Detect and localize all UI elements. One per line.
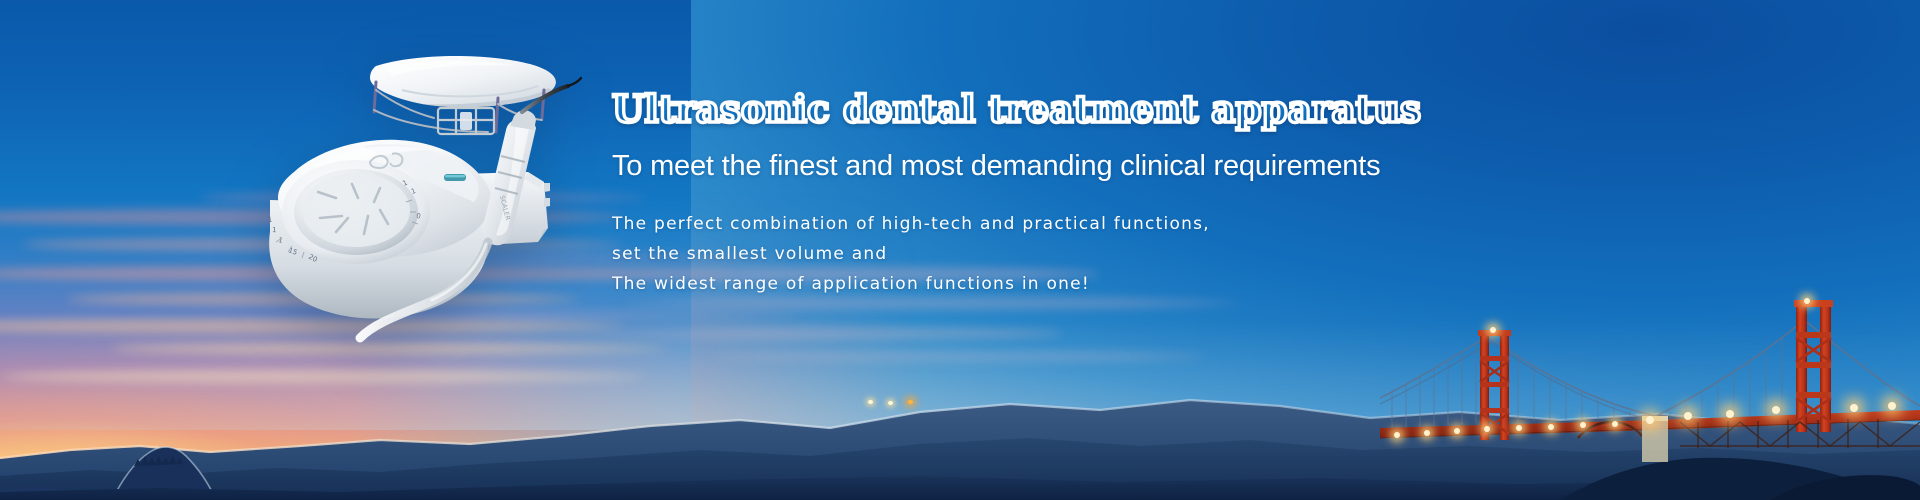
bridge-lamp bbox=[1484, 426, 1490, 432]
bridge-tower-beacon bbox=[1490, 327, 1496, 333]
bridge-lamp bbox=[1726, 410, 1734, 418]
golden-gate-bridge bbox=[1380, 270, 1920, 500]
bridge-tower-beacon bbox=[1804, 298, 1810, 304]
bridge-lamp bbox=[1684, 412, 1692, 420]
body-line-3: The widest range of application function… bbox=[612, 269, 1312, 299]
body-copy: The perfect combination of high-tech and… bbox=[612, 209, 1312, 299]
body-line-1: The perfect combination of high-tech and… bbox=[612, 209, 1312, 239]
bridge-lamp bbox=[1612, 421, 1618, 427]
ridge-light bbox=[868, 400, 873, 404]
hero-banner: 0 1 1 20 15 1 1 1 bbox=[0, 0, 1920, 500]
bridge-lamp bbox=[1548, 424, 1554, 430]
bridge-tower-left bbox=[1478, 330, 1511, 440]
bridge-lamp bbox=[1772, 406, 1780, 414]
body-line-2: set the smallest volume and bbox=[612, 239, 1312, 269]
bridge-lamp bbox=[1454, 428, 1460, 434]
bridge-lamp bbox=[1580, 422, 1586, 428]
ridge-light bbox=[908, 400, 913, 404]
svg-text:1: 1 bbox=[272, 226, 277, 234]
bridge-lamp bbox=[1646, 416, 1654, 424]
tip-holder-cover bbox=[370, 56, 556, 107]
bridge-lamp bbox=[1516, 425, 1522, 431]
banner-copy: Ultrasonic dental treatment apparatus To… bbox=[612, 86, 1312, 299]
page-title: Ultrasonic dental treatment apparatus bbox=[612, 86, 1312, 132]
svg-text:1: 1 bbox=[268, 216, 273, 224]
ultrasonic-scaler-unit: 0 1 1 20 15 1 1 1 bbox=[252, 46, 582, 346]
bridge-lamp bbox=[1394, 432, 1400, 438]
bridge-lamp bbox=[1424, 430, 1430, 436]
subtitle: To meet the finest and most demanding cl… bbox=[612, 148, 1312, 184]
bridge-lamp bbox=[1850, 404, 1858, 412]
bridge-lamp bbox=[1888, 402, 1896, 410]
bridge-tower-right bbox=[1794, 300, 1833, 432]
ridge-light bbox=[888, 401, 893, 405]
